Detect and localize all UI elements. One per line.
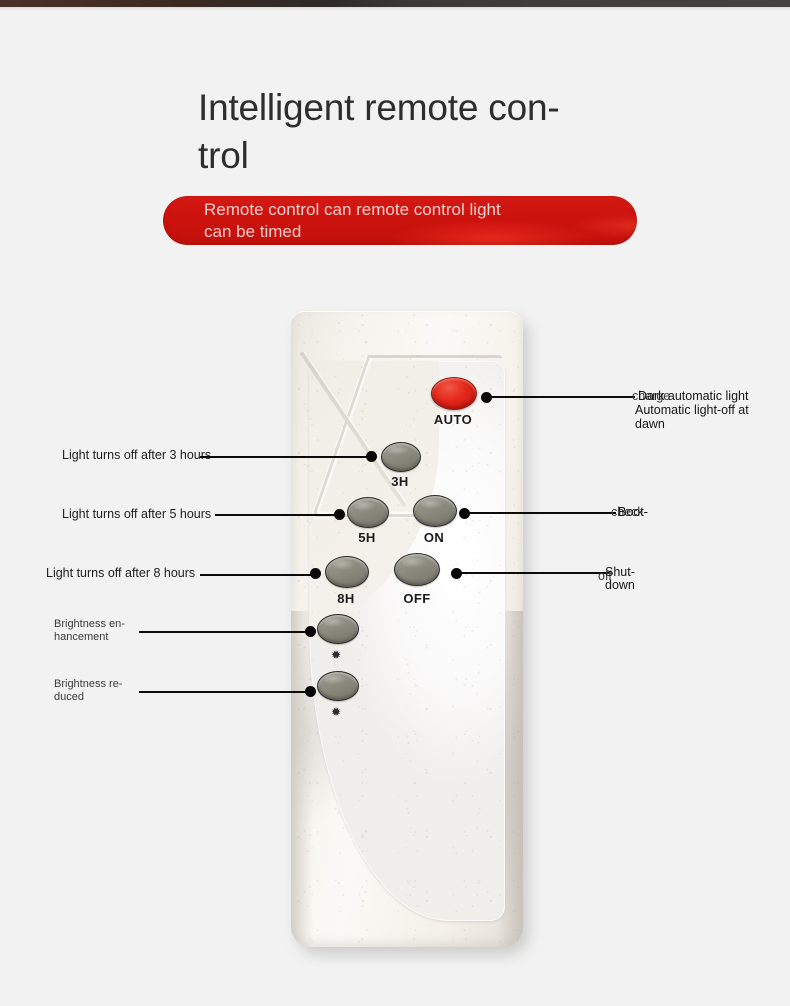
callout-leader-brightness-down xyxy=(139,691,311,693)
button-on-label: ON xyxy=(410,530,458,545)
sun-icon: ✹ xyxy=(330,706,342,718)
banner-text-line2: can be timed xyxy=(204,221,604,243)
banner-pill: Remote control can remote control light … xyxy=(163,196,637,245)
page-title: Intelligent remote con- trol xyxy=(198,84,618,180)
keypad-arc-cut xyxy=(309,361,439,651)
callout-dot-5h xyxy=(334,509,345,520)
remote-body: AUTO 3H 5H ON 8H OFF ✹ ✹ xyxy=(291,311,523,947)
button-auto[interactable] xyxy=(431,377,477,410)
sun-icon: ✹ xyxy=(330,649,342,661)
callout-label-on: check- Boot- xyxy=(611,505,691,523)
button-off[interactable] xyxy=(394,553,440,586)
callout-dot-brightness-up xyxy=(305,626,316,637)
button-brightness-down[interactable] xyxy=(317,671,359,701)
button-5h-label: 5H xyxy=(343,530,391,545)
callout-label-off: off Shut- down xyxy=(598,565,678,597)
button-3h-label: 3H xyxy=(376,474,424,489)
button-5h[interactable] xyxy=(347,497,389,528)
remote-keypad-panel xyxy=(309,361,505,921)
button-brightness-up[interactable] xyxy=(317,614,359,644)
page-root: Intelligent remote con- trol Remote cont… xyxy=(0,0,790,1006)
callout-label-auto: charge Dark automatic light Automatic li… xyxy=(632,389,788,433)
callout-label-off-line2: down xyxy=(605,578,635,593)
page-title-line1: Intelligent remote con- xyxy=(198,84,618,132)
button-3h[interactable] xyxy=(381,442,421,472)
top-strip-shadow xyxy=(0,7,790,11)
button-off-label: OFF xyxy=(392,591,442,606)
callout-label-brightness-down-line1: Brightness re- xyxy=(54,678,164,691)
remote-right-edge-shading xyxy=(497,611,523,947)
callout-leader-off xyxy=(460,572,610,574)
remote-left-edge-shading xyxy=(291,611,313,947)
callout-label-brightness-up-line1: Brightness en- xyxy=(54,618,164,631)
button-8h-label: 8H xyxy=(322,591,370,606)
callout-label-auto-line3: dawn xyxy=(635,417,665,432)
callout-leader-5h xyxy=(215,514,340,516)
button-on[interactable] xyxy=(413,495,457,527)
callout-leader-8h xyxy=(200,574,315,576)
callout-dot-3h xyxy=(366,451,377,462)
page-title-line2: trol xyxy=(198,132,618,180)
remote-groove-recess xyxy=(312,355,503,517)
top-dark-strip xyxy=(0,0,790,7)
callout-dot-brightness-down xyxy=(305,686,316,697)
callout-label-auto-over: Dark automatic light xyxy=(638,389,748,404)
callout-dot-8h xyxy=(310,568,321,579)
callout-label-auto-line2: Automatic light-off at xyxy=(635,403,749,418)
callout-label-on-over: Boot- xyxy=(618,505,648,520)
banner-text: Remote control can remote control light … xyxy=(204,199,604,243)
callout-leader-auto xyxy=(490,396,635,398)
callout-leader-3h xyxy=(200,456,370,458)
button-8h[interactable] xyxy=(325,556,369,588)
remote-groove-diagonal xyxy=(299,351,406,507)
banner-text-line1: Remote control can remote control light xyxy=(204,199,604,221)
callout-leader-on xyxy=(468,512,616,514)
callout-leader-brightness-up xyxy=(139,631,311,633)
remote-control-image: AUTO 3H 5H ON 8H OFF ✹ ✹ xyxy=(291,311,529,951)
button-auto-label: AUTO xyxy=(419,412,487,427)
